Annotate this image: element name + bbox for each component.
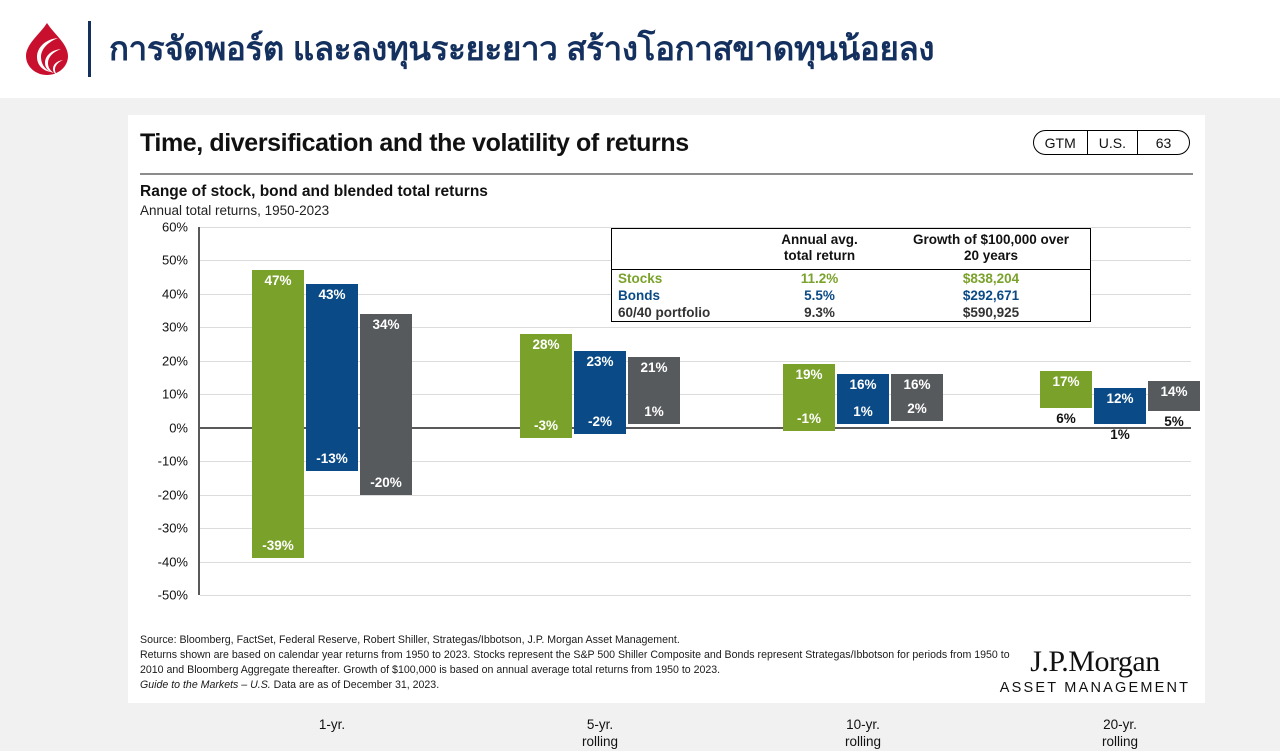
y-axis-tick: 50%: [162, 253, 188, 268]
y-axis-tick: 20%: [162, 353, 188, 368]
legend-name: Stocks: [612, 271, 747, 286]
y-axis-tick: -40%: [158, 554, 188, 569]
bar-bonds-0: [306, 284, 358, 471]
card-header: Time, diversification and the volatility…: [140, 127, 1193, 175]
legend-header-row: Annual avg. total return Growth of $100,…: [612, 229, 1090, 270]
red-flame-logo: [24, 22, 70, 76]
x-axis-tick-line: rolling: [535, 734, 665, 751]
bar-max-label: 12%: [1094, 391, 1146, 406]
legend-growth: $838,204: [892, 271, 1090, 286]
bar-min-label: -1%: [783, 411, 835, 426]
bar-stocks-0: [252, 270, 304, 558]
bar-max-label: 19%: [783, 367, 835, 382]
legend-growth: $292,671: [892, 288, 1090, 303]
bar-max-label: 16%: [891, 377, 943, 392]
footnote-guide-rest: Data are as of December 31, 2023.: [271, 679, 439, 691]
subtitle-block: Range of stock, bond and blended total r…: [140, 183, 488, 218]
bar-min-label: 1%: [1094, 427, 1146, 442]
pill-gtm: GTM: [1034, 131, 1087, 154]
chart-card: Time, diversification and the volatility…: [128, 115, 1205, 703]
x-axis-tick-line: rolling: [798, 734, 928, 751]
legend-return: 5.5%: [747, 288, 892, 303]
gridline: [200, 495, 1191, 496]
bar-60-40-portfolio-0: [360, 314, 412, 495]
page-title: การจัดพอร์ต และลงทุนระยะยาว สร้างโอกาสขา…: [109, 30, 934, 68]
pill-region: U.S.: [1087, 131, 1137, 154]
chart-title: Time, diversification and the volatility…: [140, 129, 689, 158]
slide-header: การจัดพอร์ต และลงทุนระยะยาว สร้างโอกาสขา…: [0, 0, 1280, 98]
footnote-guide: Guide to the Markets – U.S. Data are as …: [140, 678, 1010, 693]
bar-max-label: 47%: [252, 273, 304, 288]
jpmorgan-logo: J.P.Morgan ASSET MANAGEMENT: [995, 645, 1195, 696]
legend-header-spacer: [612, 232, 747, 265]
bar-max-label: 17%: [1040, 374, 1092, 389]
header-divider: [88, 21, 91, 77]
bar-max-label: 16%: [837, 377, 889, 392]
bar-min-label: -20%: [360, 475, 412, 490]
footnote-source: Source: Bloomberg, FactSet, Federal Rese…: [140, 633, 1010, 648]
y-axis-tick: 40%: [162, 286, 188, 301]
jpmorgan-tagline: ASSET MANAGEMENT: [995, 680, 1195, 696]
bar-min-label: -3%: [520, 418, 572, 433]
x-axis-tick-2: 10-yr.rolling: [798, 717, 928, 751]
chart-subtitle: Range of stock, bond and blended total r…: [140, 183, 488, 201]
chart-subsubtitle: Annual total returns, 1950-2023: [140, 203, 488, 218]
footnote-block: Source: Bloomberg, FactSet, Federal Rese…: [140, 633, 1010, 693]
jpmorgan-wordmark: J.P.Morgan: [995, 645, 1195, 679]
bar-min-label: 1%: [628, 404, 680, 419]
legend-row-stocks: Stocks 11.2% $838,204: [612, 270, 1090, 287]
x-axis-tick-1: 5-yr.rolling: [535, 717, 665, 751]
bar-max-label: 43%: [306, 287, 358, 302]
gridline: [200, 528, 1191, 529]
legend-growth: $590,925: [892, 305, 1090, 320]
gtm-page-pill: GTM U.S. 63: [1033, 130, 1190, 155]
legend-table: Annual avg. total return Growth of $100,…: [611, 228, 1091, 322]
bar-min-label: 6%: [1040, 411, 1092, 426]
y-axis-tick: -20%: [158, 487, 188, 502]
bar-max-label: 14%: [1148, 384, 1200, 399]
y-axis-tick: -10%: [158, 454, 188, 469]
bar-max-label: 28%: [520, 337, 572, 352]
x-axis-tick-line: rolling: [1055, 734, 1185, 751]
gridline: [200, 595, 1191, 596]
gridline: [200, 562, 1191, 563]
y-axis-tick: 30%: [162, 320, 188, 335]
legend-name: Bonds: [612, 288, 747, 303]
legend-row-bonds: Bonds 5.5% $292,671: [612, 287, 1090, 304]
y-axis-tick: 0%: [169, 420, 188, 435]
bar-min-label: 5%: [1148, 414, 1200, 429]
bar-max-label: 23%: [574, 354, 626, 369]
bar-min-label: -13%: [306, 451, 358, 466]
legend-name: 60/40 portfolio: [612, 305, 747, 320]
slide-body: Time, diversification and the volatility…: [0, 98, 1280, 720]
footnote-methodology: Returns shown are based on calendar year…: [140, 648, 1010, 678]
legend-return: 11.2%: [747, 271, 892, 286]
bar-min-label: 1%: [837, 404, 889, 419]
y-axis-tick: 10%: [162, 387, 188, 402]
y-axis-tick: -30%: [158, 521, 188, 536]
bar-min-label: -2%: [574, 414, 626, 429]
footnote-guide-italic: Guide to the Markets – U.S.: [140, 679, 271, 691]
bar-min-label: 2%: [891, 401, 943, 416]
legend-header-growth: Growth of $100,000 over 20 years: [892, 232, 1090, 265]
y-axis-tick: 60%: [162, 220, 188, 235]
bar-max-label: 34%: [360, 317, 412, 332]
x-axis-tick-3: 20-yr.rolling: [1055, 717, 1185, 751]
bar-min-label: -39%: [252, 538, 304, 553]
legend-header-return: Annual avg. total return: [747, 232, 892, 265]
pill-page-number: 63: [1137, 131, 1189, 154]
bar-max-label: 21%: [628, 360, 680, 375]
y-axis-tick: -50%: [158, 588, 188, 603]
legend-return: 9.3%: [747, 305, 892, 320]
legend-row-blend: 60/40 portfolio 9.3% $590,925: [612, 304, 1090, 321]
title-divider: [140, 173, 1193, 175]
